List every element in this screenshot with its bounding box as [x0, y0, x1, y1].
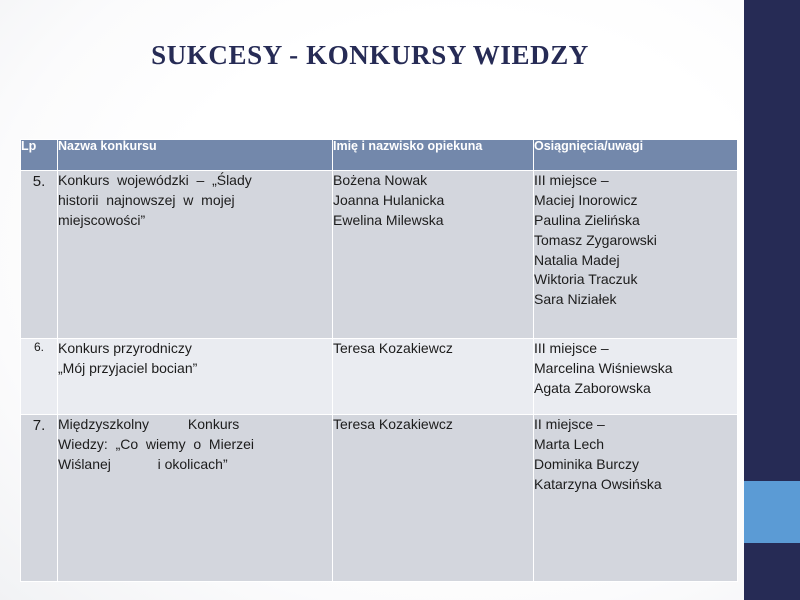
table-body: 5.Konkurs wojewódzki – „Śladyhistorii na…: [21, 171, 737, 581]
table-header: Lp Nazwa konkursu Imię i nazwisko opieku…: [21, 140, 737, 170]
cell-achievements: III miejsce –Maciej InorowiczPaulina Zie…: [534, 171, 737, 338]
cell-competition-name: Konkurs wojewódzki – „Śladyhistorii najn…: [58, 171, 332, 338]
cell-lp: 6.: [21, 339, 57, 414]
column-header-supervisor: Imię i nazwisko opiekuna: [333, 140, 533, 170]
cell-supervisor: Bożena NowakJoanna HulanickaEwelina Mile…: [333, 171, 533, 338]
column-header-achievements: Osiągnięcia/uwagi: [534, 140, 737, 170]
cell-lp: 5.: [21, 171, 57, 338]
cell-achievements: III miejsce –Marcelina WiśniewskaAgata Z…: [534, 339, 737, 414]
cell-competition-name: Konkurs przyrodniczy„Mój przyjaciel boci…: [58, 339, 332, 414]
cell-lp: 7.: [21, 415, 57, 581]
table-row: 6.Konkurs przyrodniczy„Mój przyjaciel bo…: [21, 339, 737, 414]
table-row: 7.Międzyszkolny KonkursWiedzy: „Co wiemy…: [21, 415, 737, 581]
table-row: 5.Konkurs wojewódzki – „Śladyhistorii na…: [21, 171, 737, 338]
column-header-name: Nazwa konkursu: [58, 140, 332, 170]
column-header-lp: Lp: [21, 140, 57, 170]
slide-title: SUKCESY - KONKURSY WIEDZY: [0, 40, 740, 71]
cell-achievements: II miejsce –Marta LechDominika BurczyKat…: [534, 415, 737, 581]
cell-competition-name: Międzyszkolny KonkursWiedzy: „Co wiemy o…: [58, 415, 332, 581]
cell-supervisor: Teresa Kozakiewcz: [333, 415, 533, 581]
right-edge-blue-accent-block: [744, 481, 800, 543]
table-header-row: Lp Nazwa konkursu Imię i nazwisko opieku…: [21, 140, 737, 170]
slide-canvas: SUKCESY - KONKURSY WIEDZY Lp Nazwa konku…: [0, 0, 800, 600]
cell-supervisor: Teresa Kozakiewcz: [333, 339, 533, 414]
results-table: Lp Nazwa konkursu Imię i nazwisko opieku…: [20, 139, 738, 582]
